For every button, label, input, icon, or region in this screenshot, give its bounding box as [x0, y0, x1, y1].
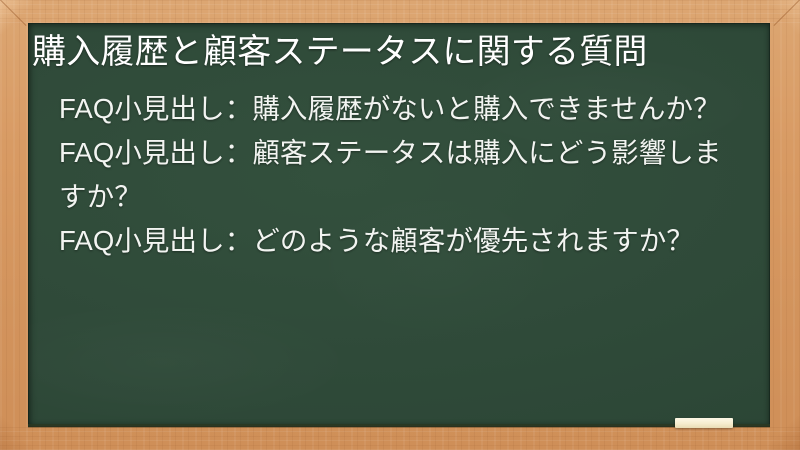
frame-grain-top: [0, 0, 800, 23]
chalkboard-surface: 購入履歴と顧客ステータスに関する質問 FAQ小見出し：購入履歴がないと購入できま…: [28, 23, 770, 427]
chalk-piece-icon: [675, 418, 733, 428]
frame-corner-top-right: [766, 0, 800, 34]
faq-list: FAQ小見出し：購入履歴がないと購入できませんか？ FAQ小見出し：顧客ステータ…: [30, 87, 754, 263]
board-content: 購入履歴と顧客ステータスに関する質問 FAQ小見出し：購入履歴がないと購入できま…: [28, 23, 770, 263]
page-title: 購入履歴と顧客ステータスに関する質問: [30, 30, 754, 75]
list-item: FAQ小見出し：購入履歴がないと購入できませんか？: [59, 87, 744, 131]
frame-miter-seam-top-left: [0, 0, 26, 26]
frame-miter-seam-top-right: [774, 0, 800, 26]
frame-grain-bottom: [0, 427, 800, 450]
frame-corner-bottom-right: [766, 416, 800, 450]
list-item: FAQ小見出し：どのような顧客が優先されますか？: [59, 219, 744, 263]
list-item: FAQ小見出し：顧客ステータスは購入にどう影響しますか？: [59, 131, 744, 219]
blackboard-frame: 購入履歴と顧客ステータスに関する質問 FAQ小見出し：購入履歴がないと購入できま…: [0, 0, 800, 450]
